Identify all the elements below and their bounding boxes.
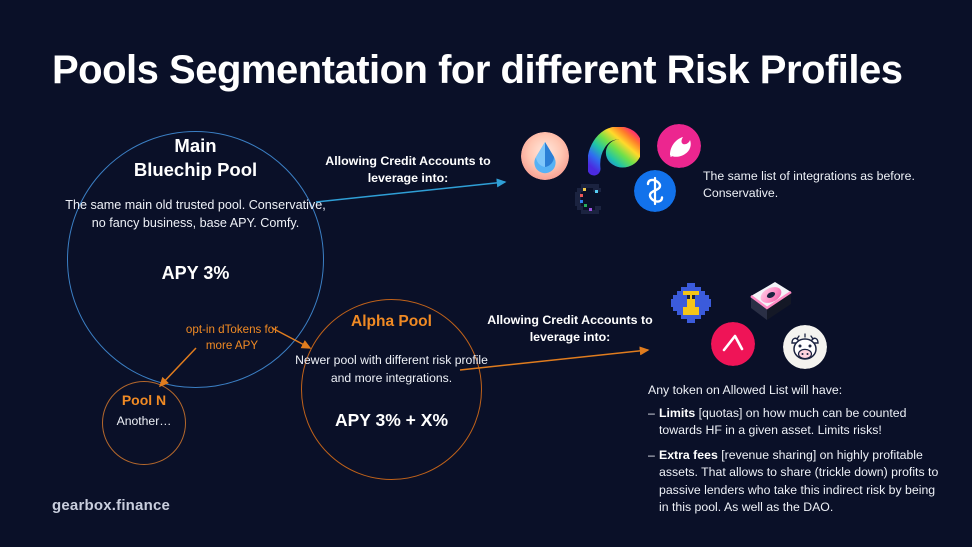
arrow-token-icon xyxy=(711,322,755,366)
sushiswap-icon xyxy=(745,278,795,326)
leverage-label-top: Allowing Credit Accounts to leverage int… xyxy=(308,153,508,186)
bullet-text: Limits [quotas] on how much can be count… xyxy=(659,405,948,440)
alpha-pool-apy: APY 3% + X% xyxy=(301,410,482,431)
list-item: – Limits [quotas] on how much can be cou… xyxy=(648,405,948,440)
alpha-pool-description: Newer pool with different risk profile a… xyxy=(291,352,492,388)
bullet-dash: – xyxy=(648,447,659,517)
integrations-note: The same list of integrations as before.… xyxy=(703,168,923,203)
lido-icon xyxy=(521,132,569,180)
bullet-rest: [quotas] on how much can be counted towa… xyxy=(659,406,906,437)
list-item: – Extra fees [revenue sharing] on highly… xyxy=(648,447,948,517)
pool-n-description: Another… xyxy=(96,414,192,428)
yearn-icon xyxy=(634,170,676,212)
uniswap-icon xyxy=(657,124,701,168)
leverage-label-bottom: Allowing Credit Accounts to leverage int… xyxy=(470,312,670,345)
balancer-rainbow-icon xyxy=(588,127,640,177)
main-pool-heading: Main Bluechip Pool xyxy=(67,134,324,183)
main-pool-apy: APY 3% xyxy=(67,263,324,284)
footer-brand: gearbox.finance xyxy=(52,497,170,514)
main-pool-description: The same main old trusted pool. Conserva… xyxy=(57,196,334,233)
slide-root: Pools Segmentation for different Risk Pr… xyxy=(0,0,972,547)
allowed-list-title: Any token on Allowed List will have: xyxy=(648,383,948,397)
bullet-emphasis: Limits xyxy=(659,406,695,420)
optin-dtokens-label: opt-in dTokens for more APY xyxy=(174,322,290,354)
bullet-dash: – xyxy=(648,405,659,440)
main-pool-heading-line2: Bluechip Pool xyxy=(67,158,324,182)
pool-n-heading: Pool N xyxy=(102,392,186,408)
allowed-list-bullets: – Limits [quotas] on how much can be cou… xyxy=(648,405,948,524)
frax-pixel-icon xyxy=(669,281,713,325)
page-title: Pools Segmentation for different Risk Pr… xyxy=(52,48,902,93)
convex-icon xyxy=(571,180,607,218)
main-pool-heading-line1: Main xyxy=(67,134,324,158)
cowswap-icon xyxy=(783,325,827,369)
bullet-text: Extra fees [revenue sharing] on highly p… xyxy=(659,447,948,517)
alpha-pool-heading: Alpha Pool xyxy=(301,313,482,331)
bullet-emphasis: Extra fees xyxy=(659,448,718,462)
